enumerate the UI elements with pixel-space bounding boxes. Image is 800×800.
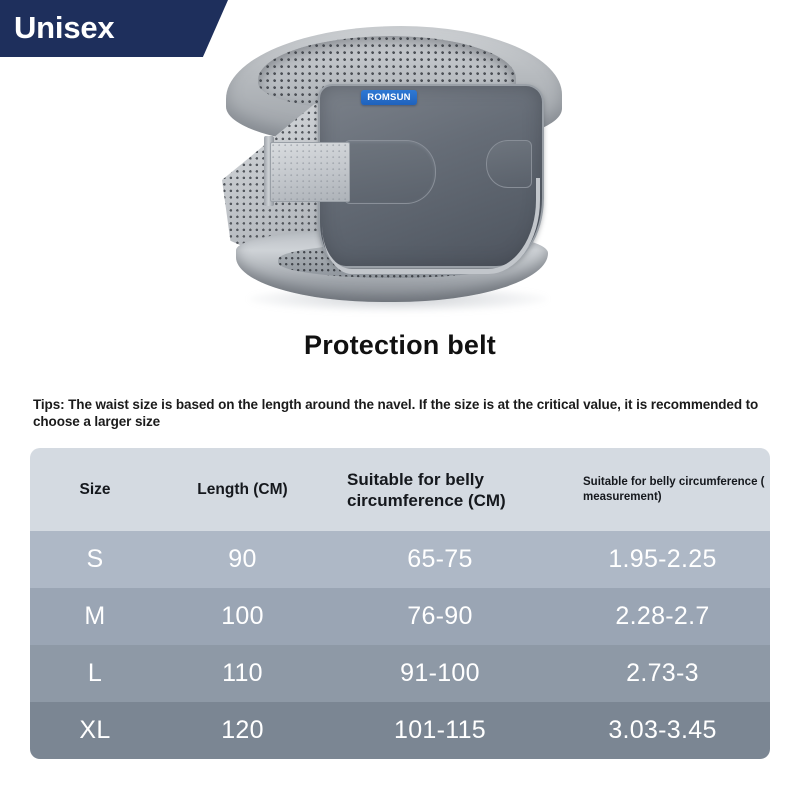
cell-belly-measure: 1.95-2.25 xyxy=(555,545,770,574)
table-row: M 100 76-90 2.28-2.7 xyxy=(30,588,770,645)
product-title: Protection belt xyxy=(0,330,800,361)
cell-belly-measure: 2.73-3 xyxy=(555,659,770,688)
cell-belly-cm: 76-90 xyxy=(325,602,555,631)
tips-note: Tips: The waist size is based on the len… xyxy=(33,396,773,430)
romsun-logo-text: ROMSUN xyxy=(367,93,410,103)
product-image: ROMSUN xyxy=(218,18,568,318)
cell-belly-measure: 3.03-3.45 xyxy=(555,716,770,745)
cell-length: 100 xyxy=(160,602,325,631)
romsun-logo-patch: ROMSUN xyxy=(361,90,417,105)
cell-belly-cm: 65-75 xyxy=(325,545,555,574)
cell-belly-cm: 91-100 xyxy=(325,659,555,688)
table-row: L 110 91-100 2.73-3 xyxy=(30,645,770,702)
column-header-length: Length (CM) xyxy=(160,481,325,499)
unisex-banner: Unisex xyxy=(0,0,228,57)
cell-length: 120 xyxy=(160,716,325,745)
table-header-row: Size Length (CM) Suitable for belly circ… xyxy=(30,448,770,531)
belt-velcro-tab-large xyxy=(344,140,436,204)
cell-size: L xyxy=(30,659,160,688)
table-row: XL 120 101-115 3.03-3.45 xyxy=(30,702,770,759)
unisex-banner-label: Unisex xyxy=(14,5,114,50)
table-row: S 90 65-75 1.95-2.25 xyxy=(30,531,770,588)
cell-length: 90 xyxy=(160,545,325,574)
belt-velcro-tab-small xyxy=(486,140,532,188)
cell-size: XL xyxy=(30,716,160,745)
belt-pull-strap xyxy=(270,142,350,202)
cell-length: 110 xyxy=(160,659,325,688)
size-chart-table: Size Length (CM) Suitable for belly circ… xyxy=(30,448,770,759)
column-header-belly-cm: Suitable for belly circumference (CM) xyxy=(325,469,555,511)
column-header-size: Size xyxy=(30,481,160,499)
cell-belly-measure: 2.28-2.7 xyxy=(555,602,770,631)
cell-size: S xyxy=(30,545,160,574)
cell-size: M xyxy=(30,602,160,631)
cell-belly-cm: 101-115 xyxy=(325,716,555,745)
lumbar-belt-illustration: ROMSUN xyxy=(218,18,568,318)
column-header-belly-measure: Suitable for belly circumference ( measu… xyxy=(555,475,770,505)
